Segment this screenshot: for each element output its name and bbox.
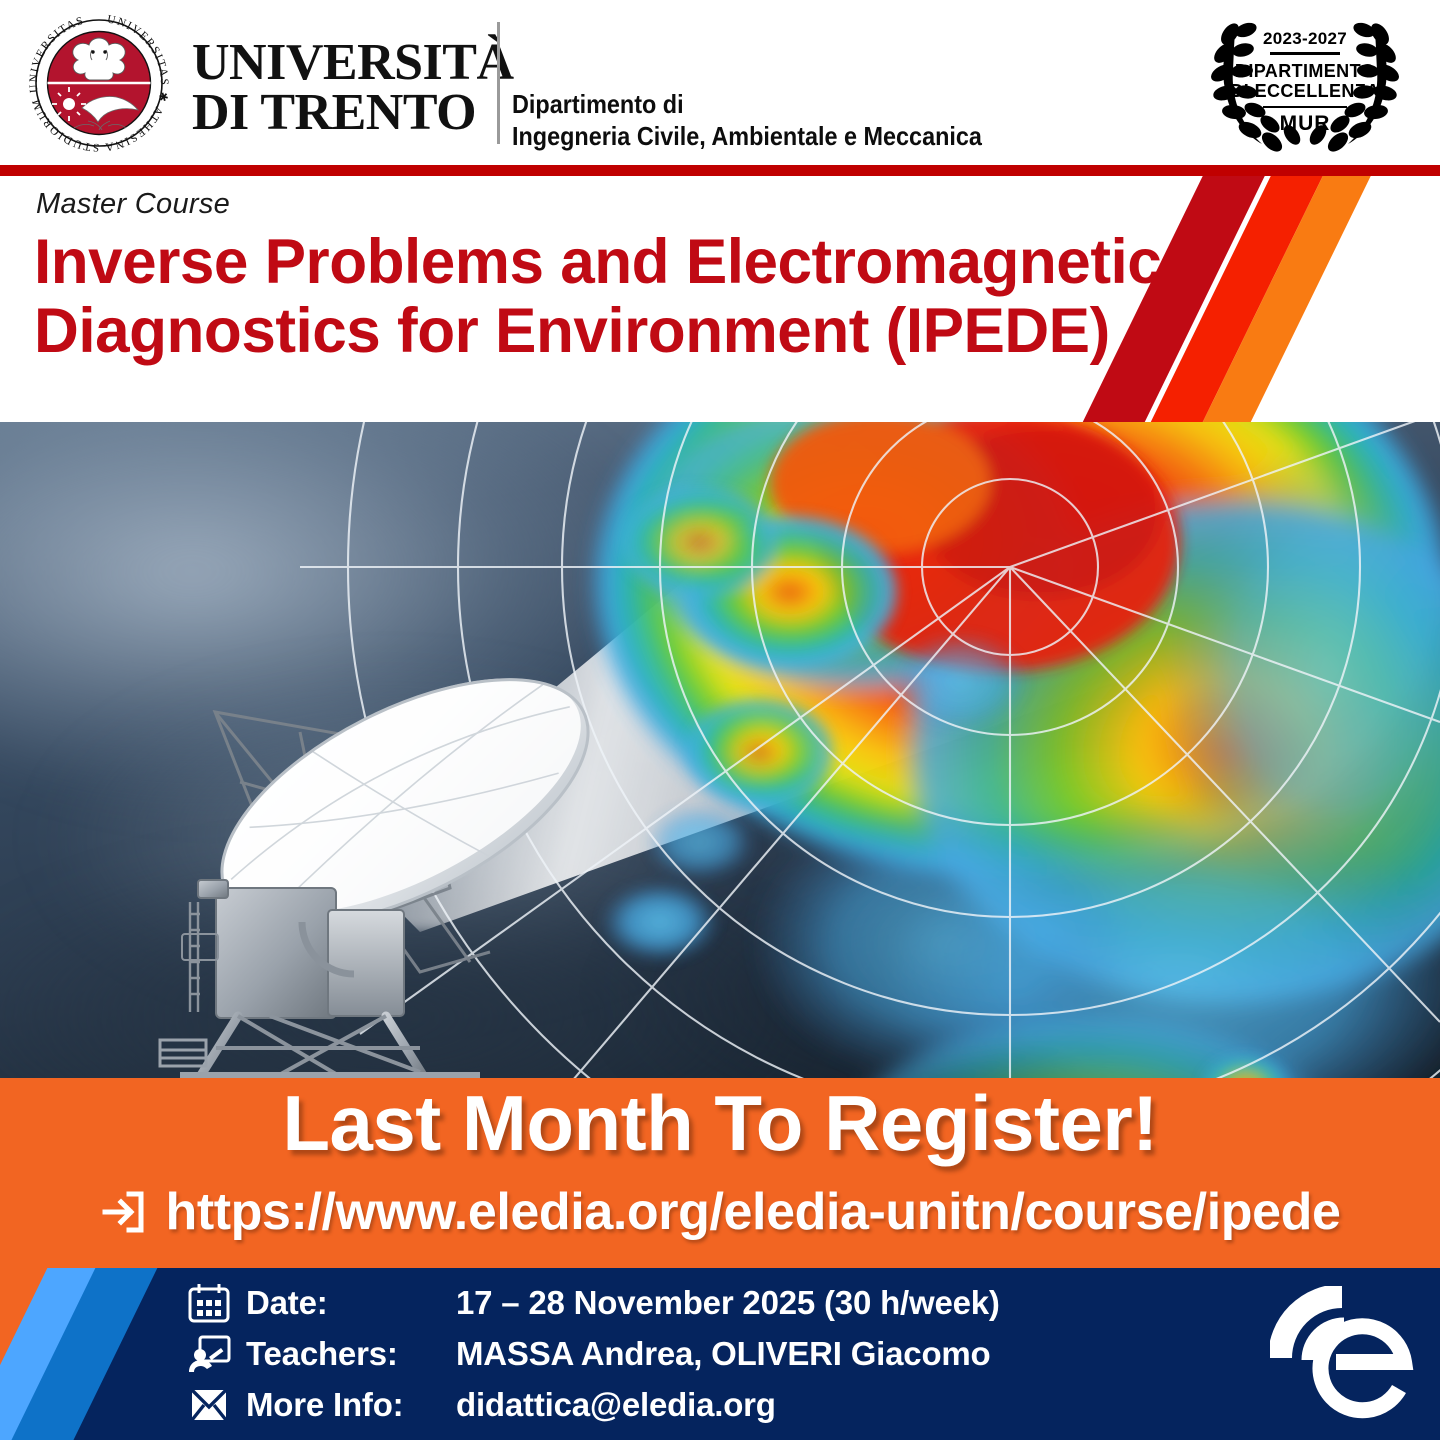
badge-line-2: DI ECCELLENZA [1230,81,1379,101]
info-value-date: 17 – 28 November 2025 (30 h/week) [456,1284,1000,1322]
poster-root: UNIVERSITAS ✱ ATHESINA STUDIORUM UNIVERS… [0,0,1440,1440]
info-row-more-info: More Info: didattica@eledia.org [186,1380,1236,1430]
info-label-more-info: More Info: [246,1386,456,1424]
badge-line-1: DIPARTIMENTO [1235,61,1375,81]
registration-url[interactable]: https://www.eledia.org/eledia-unitn/cour… [165,1182,1340,1242]
envelope-icon [186,1383,232,1427]
excellence-badge: 2023-2027 DIPARTIMENTO DI ECCELLENZA MUR [1200,4,1410,160]
info-row-date: Date: 17 – 28 November 2025 (30 h/week) [186,1278,1236,1328]
university-crest-icon: UNIVERSITAS ✱ ATHESINA STUDIORUM UNIVERS… [22,8,177,158]
info-value-teachers: MASSA Andrea, OLIVERI Giacomo [456,1335,991,1373]
eledia-logo [1270,1286,1430,1432]
satellite-dish-antenna [120,652,680,1078]
badge-rule-bottom [1263,106,1347,108]
header-red-rule [0,165,1440,176]
university-name: UNIVERSITÀ DI TRENTO [192,38,492,138]
badge-years: 2023-2027 [1263,30,1347,47]
hero-image [0,422,1440,1078]
kicker-master-course: Master Course [36,188,230,221]
page-title-line-1: Inverse Problems and Electromagnetic [34,228,1275,297]
badge-ministry: MUR [1280,113,1331,134]
badge-rule-top [1270,52,1340,55]
title-band: Master Course Inverse Problems and Elect… [0,176,1440,422]
info-value-more-info[interactable]: didattica@eledia.org [456,1386,776,1424]
teacher-presentation-icon [186,1332,232,1376]
department-line-1: Dipartimento di [512,88,1088,120]
course-info-list: Date: 17 – 28 November 2025 (30 h/week) … [186,1278,1236,1431]
info-label-teachers: Teachers: [246,1335,456,1373]
registration-cta-band: Last Month To Register! https://www.eled… [0,1078,1440,1268]
department-name: Dipartimento di Ingegneria Civile, Ambie… [512,88,1152,152]
page-title-line-2: Diagnostics for Environment (IPEDE) [34,297,1275,366]
info-row-teachers: Teachers: MASSA Andrea, OLIVERI Giacomo [186,1329,1236,1379]
calendar-icon [186,1281,232,1325]
header-divider [497,22,500,144]
login-enter-icon [99,1188,147,1236]
cta-url-row[interactable]: https://www.eledia.org/eledia-unitn/cour… [0,1182,1440,1242]
info-label-date: Date: [246,1284,456,1322]
department-line-2: Ingegneria Civile, Ambientale e Meccanic… [512,120,1088,152]
university-line-2: DI TRENTO [192,88,492,138]
header-bar: UNIVERSITAS ✱ ATHESINA STUDIORUM UNIVERS… [0,0,1440,165]
page-title: Inverse Problems and Electromagnetic Dia… [34,228,1294,367]
cta-headline: Last Month To Register! [0,1084,1440,1162]
footer-info-band: Date: 17 – 28 November 2025 (30 h/week) … [0,1268,1440,1440]
university-line-1: UNIVERSITÀ [192,38,492,88]
